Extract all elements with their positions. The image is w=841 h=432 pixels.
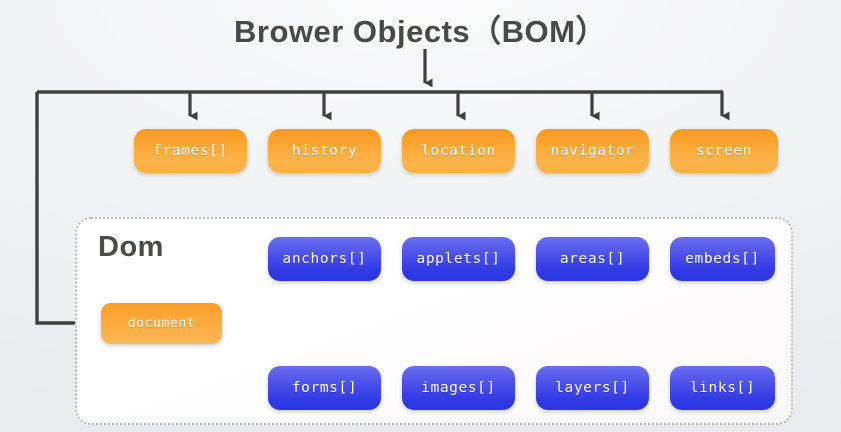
dom-node-images[interactable]: images[] [402,366,515,410]
dom-node-areas-label: areas[] [560,251,625,267]
bom-node-location[interactable]: location [402,129,515,173]
dom-node-embeds-label: embeds[] [685,251,760,267]
dom-node-links[interactable]: links[] [670,366,775,410]
bom-node-screen-label: screen [696,143,752,159]
dom-node-forms-label: forms[] [292,380,357,396]
bom-node-frames-label: frames[] [153,143,228,159]
bom-node-navigator[interactable]: navigator [536,129,649,173]
page-title: Brower Objects（BOM） [0,6,841,51]
dom-node-anchors[interactable]: anchors[] [268,237,381,281]
bom-node-location-label: location [421,143,496,159]
dom-node-layers-label: layers[] [555,380,630,396]
diagram-canvas: Brower Objects（BOM） [0,0,841,432]
dom-node-layers[interactable]: layers[] [536,366,649,410]
dom-node-forms[interactable]: forms[] [268,366,381,410]
bom-node-screen[interactable]: screen [670,129,778,173]
dom-node-areas[interactable]: areas[] [536,237,649,281]
bom-node-history[interactable]: history [268,129,381,173]
dom-node-applets[interactable]: applets[] [402,237,515,281]
dom-panel-label: Dom [98,231,164,264]
dom-node-anchors-label: anchors[] [283,251,367,267]
dom-node-links-label: links[] [690,380,755,396]
dom-node-images-label: images[] [421,380,496,396]
dom-node-applets-label: applets[] [417,251,501,267]
bom-node-navigator-label: navigator [551,143,635,159]
bom-node-frames[interactable]: frames[] [134,129,247,173]
dom-node-document[interactable]: document [101,303,222,344]
bus-branch-arrows [190,92,722,116]
dom-node-document-label: document [128,316,195,331]
bom-node-history-label: history [292,143,357,159]
dom-node-embeds[interactable]: embeds[] [670,237,775,281]
